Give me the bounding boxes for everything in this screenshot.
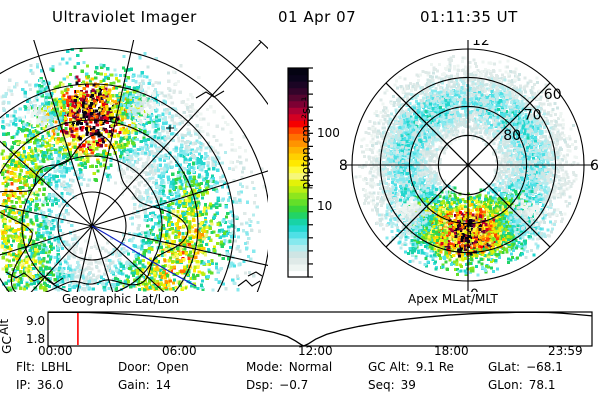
status-field-mode: Mode:Normal (246, 360, 332, 374)
gc-alt-label-top: Alt (0, 319, 11, 335)
status-value: 9.1 Re (416, 360, 454, 374)
status-label: GLat: (488, 360, 520, 374)
polar-panel-caption: Apex MLat/MLT (408, 292, 498, 306)
status-field-dsp: Dsp:−0.7 (246, 378, 308, 392)
mlat-ring-label-80: 80 (503, 128, 521, 144)
orbit-x-tick-18:00: 18:00 (434, 344, 469, 358)
status-field-flt: Flt:LBHL (16, 360, 72, 374)
status-label: Seq: (368, 378, 395, 392)
status-value: 14 (156, 378, 171, 392)
colorbar-tick-10: 10 (317, 199, 332, 213)
status-label: Flt: (16, 360, 35, 374)
status-label: Dsp: (246, 378, 273, 392)
mlat-ring-label-60: 60 (544, 87, 562, 103)
mlt-label-18: 18 (340, 158, 348, 174)
status-value: 39 (401, 378, 416, 392)
instrument-title: Ultraviolet Imager (52, 8, 197, 26)
status-value: 36.0 (37, 378, 64, 392)
geographic-projection-image (0, 40, 268, 292)
status-label: Mode: (246, 360, 283, 374)
status-field-door: Door:Open (118, 360, 189, 374)
status-label: Door: (118, 360, 151, 374)
colorbar-panel: photon cm⁻²s⁻¹ 10010 (268, 58, 342, 290)
gc-alt-label-bottom: GC (0, 336, 14, 354)
status-field-glon: GLon:78.1 (488, 378, 555, 392)
status-value: −0.7 (279, 378, 308, 392)
status-readout: Flt:LBHLDoor:OpenMode:NormalGC Alt:9.1 R… (0, 360, 600, 400)
observation-time: 01:11:35 UT (420, 8, 518, 26)
orbit-y-tick-0: 9.0 (26, 314, 45, 328)
geographic-panel-caption: Geographic Lat/Lon (62, 292, 179, 306)
status-field-ip: IP:36.0 (16, 378, 64, 392)
gc-altitude-orbit-plot: Alt GC 9.01.8 00:0006:0012:0018:0023:59 (0, 306, 600, 354)
status-value: Open (157, 360, 189, 374)
colorbar-axis-label: photon cm⁻²s⁻¹ (299, 63, 313, 223)
geographic-image-panel (0, 40, 268, 292)
mlt-label-12: 12 (472, 40, 490, 49)
status-label: IP: (16, 378, 31, 392)
orbit-x-tick-12:00: 12:00 (298, 344, 333, 358)
status-value: Normal (289, 360, 332, 374)
status-field-glat: GLat:−68.1 (488, 360, 563, 374)
polar-dial-panel: 121860607080 (340, 40, 600, 292)
header-bar: Ultraviolet Imager 01 Apr 07 01:11:35 UT (0, 6, 600, 32)
colorbar-tick-100: 100 (317, 126, 340, 140)
mlt-label-6: 6 (590, 158, 599, 174)
status-label: GC Alt: (368, 360, 410, 374)
status-field-seq: Seq:39 (368, 378, 416, 392)
observation-date: 01 Apr 07 (278, 8, 356, 26)
status-row-2: IP:36.0Gain:14Dsp:−0.7Seq:39GLon:78.1 (0, 378, 600, 396)
status-label: Gain: (118, 378, 150, 392)
status-value: 78.1 (529, 378, 556, 392)
apex-mlat-mlt-dial: 121860607080 (340, 40, 600, 292)
orbit-x-tick-06:00: 06:00 (162, 344, 197, 358)
status-field-gain: Gain:14 (118, 378, 171, 392)
orbit-x-tick-23:59: 23:59 (548, 344, 583, 358)
status-row-1: Flt:LBHLDoor:OpenMode:NormalGC Alt:9.1 R… (0, 360, 600, 378)
status-value: LBHL (41, 360, 72, 374)
orbit-x-tick-00:00: 00:00 (38, 344, 73, 358)
status-label: GLon: (488, 378, 523, 392)
mlat-ring-label-70: 70 (524, 107, 542, 123)
status-value: −68.1 (526, 360, 563, 374)
status-field-gcalt: GC Alt:9.1 Re (368, 360, 454, 374)
